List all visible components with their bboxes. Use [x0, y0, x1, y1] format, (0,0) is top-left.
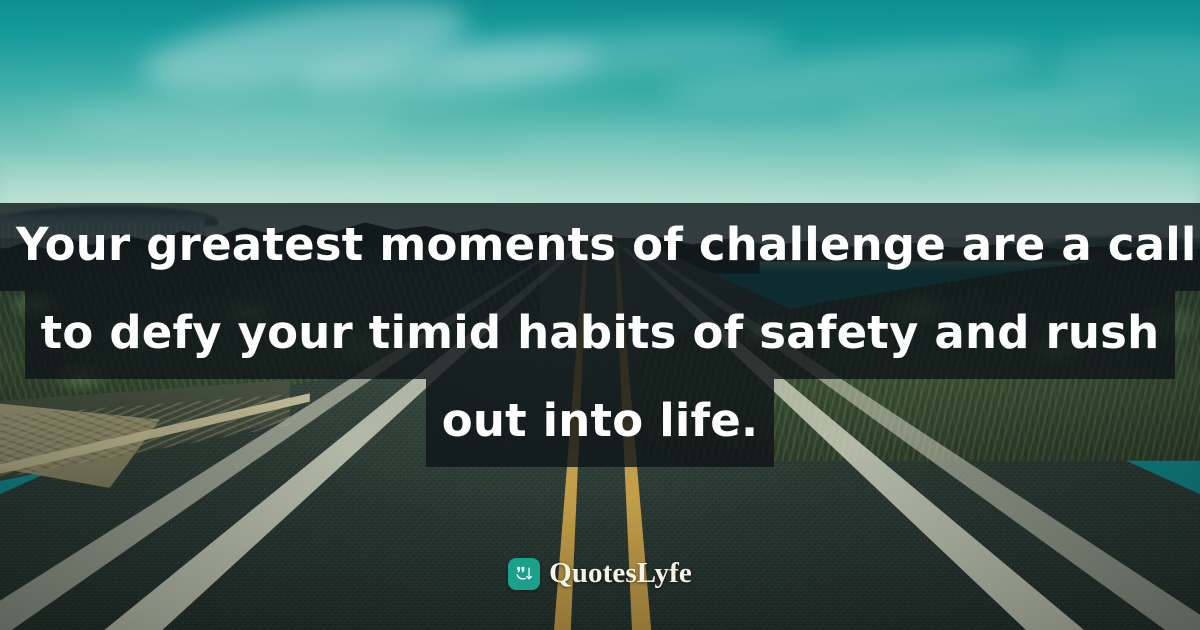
- quote-line-1-text: Your greatest moments of challenge are a…: [0, 203, 1200, 291]
- cloud-wisp: [60, 92, 400, 150]
- quote-line-2-text: to defy your timid habits of safety and …: [25, 291, 1176, 379]
- quote-line: Your greatest moments of challenge are a…: [0, 203, 1200, 291]
- brand-logo[interactable]: QuotesLyfe: [0, 557, 1200, 590]
- quote-line-3-text: out into life.: [426, 379, 775, 467]
- brand-name: QuotesLyfe: [549, 557, 692, 590]
- quote-block: Your greatest moments of challenge are a…: [0, 203, 1200, 467]
- quote-line: to defy your timid habits of safety and …: [0, 291, 1200, 379]
- quote-smiley-icon: [508, 558, 540, 590]
- quote-line: out into life.: [0, 379, 1200, 467]
- quote-card: Your greatest moments of challenge are a…: [0, 0, 1200, 630]
